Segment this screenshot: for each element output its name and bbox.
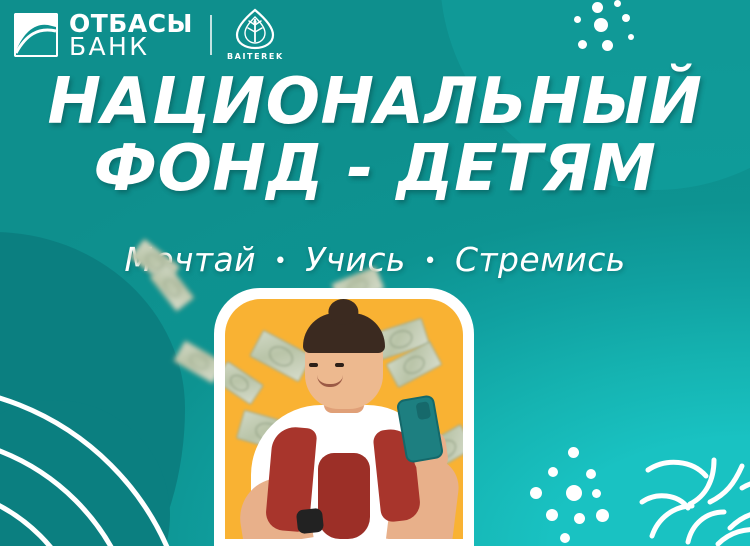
baiterek-tree-icon	[234, 8, 276, 50]
swirl-lines-decoration	[630, 432, 750, 546]
promo-poster: ОТБАСЫ БАНК BAITEREK НАЦИОНАЛЬНЫЙ ФОНД -…	[0, 0, 750, 546]
person-eye-right	[335, 363, 344, 367]
brand-logo-row: ОТБАСЫ БАНК BAITEREK	[14, 8, 284, 61]
logo-line-2: БАНК	[69, 35, 193, 58]
wristwatch-icon	[296, 508, 324, 535]
person-sweater	[269, 413, 419, 539]
tagline-word-3: Стремись	[452, 240, 629, 279]
logo-divider	[210, 15, 212, 55]
money-bill	[225, 361, 264, 406]
headline-line-2: ФОНД - ДЕТЯМ	[0, 139, 750, 200]
otbasy-bank-roof-icon	[14, 13, 58, 57]
photo-image	[225, 299, 463, 539]
photo-card	[214, 288, 474, 546]
baiterek-partner-logo: BAITEREK	[227, 8, 284, 61]
concentric-arcs-decoration	[0, 356, 200, 546]
tagline-separator-1: •	[270, 249, 291, 274]
headline-block: НАЦИОНАЛЬНЫЙ ФОНД - ДЕТЯМ	[0, 72, 750, 201]
tagline-separator-2: •	[420, 249, 441, 274]
baiterek-label: BAITEREK	[227, 52, 284, 61]
bottom-right-dot-cluster	[530, 447, 640, 542]
otbasy-bank-wordmark: ОТБАСЫ БАНК	[69, 12, 193, 58]
top-right-dot-cluster	[570, 0, 645, 60]
person-eye-left	[309, 363, 318, 367]
person-hair-bun	[328, 299, 358, 325]
headline-line-1: НАЦИОНАЛЬНЫЙ	[0, 72, 750, 133]
